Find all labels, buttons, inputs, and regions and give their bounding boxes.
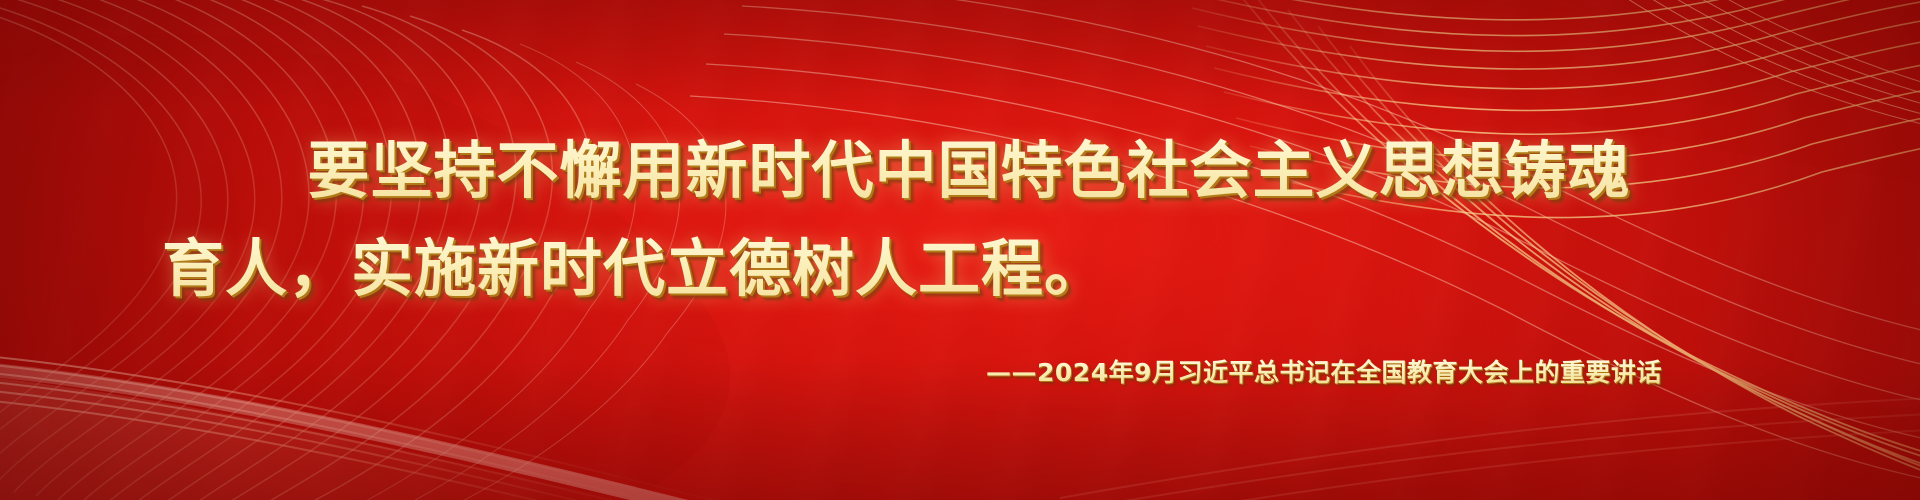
- attribution-text: ——2024年9月习近平总书记在全国教育大会上的重要讲话: [986, 356, 1662, 390]
- headline-block: 要坚持不懈用新时代中国特色社会主义思想铸魂 育人，实施新时代立德树人工程。: [0, 122, 1920, 318]
- headline-line-2: 育人，实施新时代立德树人工程。: [120, 220, 1800, 318]
- banner-content: 要坚持不懈用新时代中国特色社会主义思想铸魂 育人，实施新时代立德树人工程。 ——…: [0, 0, 1920, 500]
- headline-line-1: 要坚持不懈用新时代中国特色社会主义思想铸魂: [120, 122, 1800, 220]
- attribution-block: ——2024年9月习近平总书记在全国教育大会上的重要讲话: [0, 356, 1920, 390]
- propaganda-banner: 要坚持不懈用新时代中国特色社会主义思想铸魂 育人，实施新时代立德树人工程。 ——…: [0, 0, 1920, 500]
